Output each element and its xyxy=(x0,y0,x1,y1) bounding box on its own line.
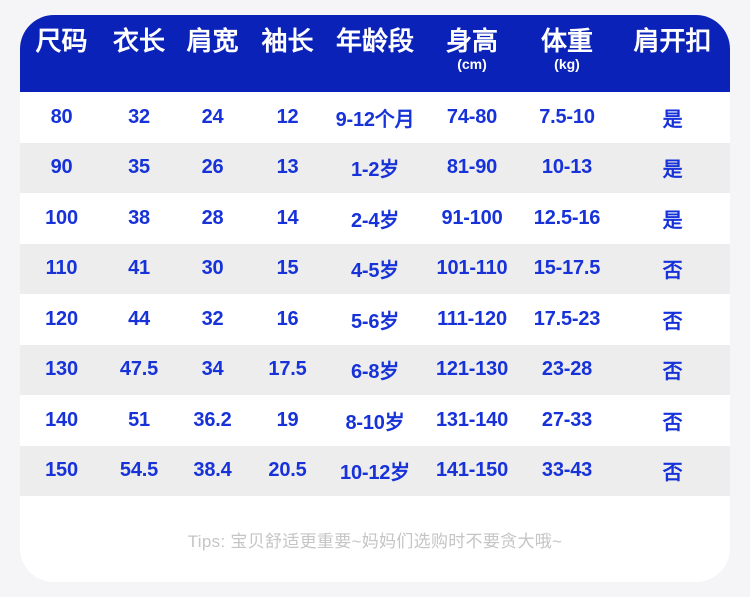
cell-age-range: 9-12个月 xyxy=(325,103,425,132)
cell-length: 44 xyxy=(103,308,175,331)
cell-height: 101-110 xyxy=(425,257,519,280)
cell-weight: 23-28 xyxy=(519,358,615,381)
cell-height: 141-150 xyxy=(425,459,519,482)
column-header-shoulder-button-label: 肩开扣 xyxy=(633,27,711,56)
cell-shoulder-button: 是 xyxy=(615,204,730,233)
column-header-age-range: 年龄段 xyxy=(325,15,425,92)
cell-length: 47.5 xyxy=(103,358,175,381)
column-header-size-label: 尺码 xyxy=(35,27,87,56)
cell-size: 90 xyxy=(20,156,103,179)
cell-age-range: 5-6岁 xyxy=(325,305,425,334)
column-header-sleeve-length-label: 袖长 xyxy=(261,27,313,56)
column-header-length: 衣长 xyxy=(103,15,175,92)
cell-weight: 7.5-10 xyxy=(519,106,615,129)
column-header-sleeve-length: 袖长 xyxy=(250,15,325,92)
table-row: 90 35 26 13 1-2岁 81-90 10-13 是 xyxy=(20,143,730,194)
column-header-size: 尺码 xyxy=(20,15,103,92)
cell-age-range: 6-8岁 xyxy=(325,355,425,384)
cell-age-range: 2-4岁 xyxy=(325,204,425,233)
cell-sleeve-length: 20.5 xyxy=(250,459,325,482)
cell-size: 80 xyxy=(20,106,103,129)
cell-sleeve-length: 16 xyxy=(250,308,325,331)
cell-shoulder-button: 否 xyxy=(615,456,730,485)
cell-shoulder-button: 否 xyxy=(615,406,730,435)
cell-shoulder-width: 32 xyxy=(175,308,250,331)
cell-height: 74-80 xyxy=(425,106,519,129)
cell-height: 131-140 xyxy=(425,409,519,432)
cell-length: 51 xyxy=(103,409,175,432)
cell-length: 41 xyxy=(103,257,175,280)
cell-size: 110 xyxy=(20,257,103,280)
column-header-weight-label: 体重 xyxy=(541,27,593,56)
cell-size: 120 xyxy=(20,308,103,331)
cell-age-range: 8-10岁 xyxy=(325,406,425,435)
cell-shoulder-width: 38.4 xyxy=(175,459,250,482)
cell-weight: 12.5-16 xyxy=(519,207,615,230)
cell-shoulder-width: 24 xyxy=(175,106,250,129)
cell-shoulder-width: 36.2 xyxy=(175,409,250,432)
column-header-age-range-label: 年龄段 xyxy=(336,27,414,56)
cell-weight: 27-33 xyxy=(519,409,615,432)
table-row: 130 47.5 34 17.5 6-8岁 121-130 23-28 否 xyxy=(20,345,730,396)
cell-shoulder-width: 30 xyxy=(175,257,250,280)
table-body: 80 32 24 12 9-12个月 74-80 7.5-10 是 90 35 … xyxy=(20,92,730,496)
cell-height: 121-130 xyxy=(425,358,519,381)
column-header-shoulder-width: 肩宽 xyxy=(175,15,250,92)
column-header-shoulder-button: 肩开扣 xyxy=(615,15,730,92)
table-row: 120 44 32 16 5-6岁 111-120 17.5-23 否 xyxy=(20,294,730,345)
tips-text: Tips: 宝贝舒适更重要~妈妈们选购时不要贪大哦~ xyxy=(188,527,563,552)
cell-age-range: 10-12岁 xyxy=(325,456,425,485)
cell-shoulder-width: 28 xyxy=(175,207,250,230)
column-header-length-label: 衣长 xyxy=(113,27,165,56)
cell-sleeve-length: 15 xyxy=(250,257,325,280)
cell-height: 91-100 xyxy=(425,207,519,230)
cell-length: 54.5 xyxy=(103,459,175,482)
cell-weight: 15-17.5 xyxy=(519,257,615,280)
cell-shoulder-width: 34 xyxy=(175,358,250,381)
column-header-shoulder-width-label: 肩宽 xyxy=(186,27,238,56)
cell-shoulder-button: 否 xyxy=(615,254,730,283)
cell-shoulder-button: 否 xyxy=(615,305,730,334)
column-header-weight: 体重 (kg) xyxy=(519,15,615,92)
column-header-height-label: 身高 xyxy=(446,27,498,56)
cell-shoulder-width: 26 xyxy=(175,156,250,179)
cell-weight: 33-43 xyxy=(519,459,615,482)
cell-size: 150 xyxy=(20,459,103,482)
cell-sleeve-length: 13 xyxy=(250,156,325,179)
cell-sleeve-length: 19 xyxy=(250,409,325,432)
table-row: 140 51 36.2 19 8-10岁 131-140 27-33 否 xyxy=(20,395,730,446)
column-header-height-unit: (cm) xyxy=(457,57,487,72)
cell-size: 130 xyxy=(20,358,103,381)
size-chart: 尺码 衣长 肩宽 袖长 年龄段 身高 (cm) 体重 (kg) 肩开扣 80 3… xyxy=(0,0,750,597)
column-header-weight-unit: (kg) xyxy=(554,57,580,72)
cell-height: 111-120 xyxy=(425,308,519,331)
cell-weight: 17.5-23 xyxy=(519,308,615,331)
table-header-row: 尺码 衣长 肩宽 袖长 年龄段 身高 (cm) 体重 (kg) 肩开扣 xyxy=(20,15,730,92)
cell-shoulder-button: 是 xyxy=(615,103,730,132)
cell-length: 35 xyxy=(103,156,175,179)
cell-sleeve-length: 17.5 xyxy=(250,358,325,381)
cell-sleeve-length: 12 xyxy=(250,106,325,129)
cell-size: 140 xyxy=(20,409,103,432)
cell-length: 32 xyxy=(103,106,175,129)
cell-shoulder-button: 否 xyxy=(615,355,730,384)
cell-age-range: 4-5岁 xyxy=(325,254,425,283)
cell-age-range: 1-2岁 xyxy=(325,153,425,182)
cell-shoulder-button: 是 xyxy=(615,153,730,182)
table-row: 100 38 28 14 2-4岁 91-100 12.5-16 是 xyxy=(20,193,730,244)
column-header-height: 身高 (cm) xyxy=(425,15,519,92)
table-row: 80 32 24 12 9-12个月 74-80 7.5-10 是 xyxy=(20,92,730,143)
cell-length: 38 xyxy=(103,207,175,230)
table-row: 150 54.5 38.4 20.5 10-12岁 141-150 33-43 … xyxy=(20,446,730,497)
table-row: 110 41 30 15 4-5岁 101-110 15-17.5 否 xyxy=(20,244,730,295)
cell-sleeve-length: 14 xyxy=(250,207,325,230)
tips-footer: Tips: 宝贝舒适更重要~妈妈们选购时不要贪大哦~ xyxy=(20,496,730,582)
cell-size: 100 xyxy=(20,207,103,230)
cell-weight: 10-13 xyxy=(519,156,615,179)
cell-height: 81-90 xyxy=(425,156,519,179)
